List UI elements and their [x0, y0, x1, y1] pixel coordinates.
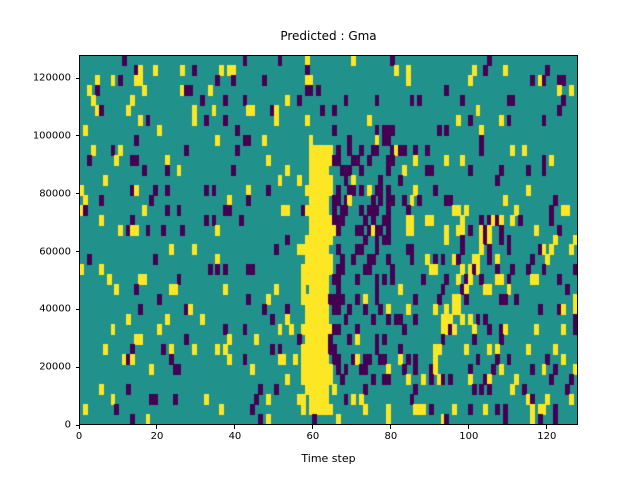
y-tick-label: 0 — [0, 420, 71, 431]
heatmap-plot-area[interactable] — [79, 55, 578, 425]
x-tick-mark — [390, 425, 391, 429]
x-tick-mark — [546, 425, 547, 429]
y-tick-mark — [76, 367, 80, 368]
x-tick-label: 60 — [307, 431, 320, 442]
x-tick-mark — [234, 425, 235, 429]
x-axis-label: Time step — [79, 452, 578, 465]
y-tick-mark — [76, 425, 80, 426]
x-tick-label: 40 — [229, 431, 242, 442]
page-title: Predicted : Gma — [79, 29, 578, 43]
y-tick-mark — [76, 309, 80, 310]
y-tick-mark — [76, 251, 80, 252]
x-tick-label: 0 — [76, 431, 82, 442]
y-tick-label: 40000 — [0, 304, 71, 315]
heatmap-image — [80, 56, 577, 424]
x-tick-label: 20 — [151, 431, 164, 442]
x-tick-mark — [468, 425, 469, 429]
y-tick-label: 80000 — [0, 188, 71, 199]
y-tick-mark — [76, 135, 80, 136]
x-tick-mark — [312, 425, 313, 429]
y-tick-mark — [76, 78, 80, 79]
x-tick-mark — [79, 425, 80, 429]
y-tick-mark — [76, 193, 80, 194]
figure-canvas: Predicted : Gma 020406080100120 02000040… — [0, 0, 640, 480]
x-tick-label: 120 — [537, 431, 556, 442]
y-tick-label: 60000 — [0, 246, 71, 257]
y-tick-label: 120000 — [0, 73, 71, 84]
x-tick-label: 80 — [385, 431, 398, 442]
x-tick-label: 100 — [459, 431, 478, 442]
x-tick-mark — [156, 425, 157, 429]
y-tick-label: 20000 — [0, 362, 71, 373]
y-tick-label: 100000 — [0, 130, 71, 141]
